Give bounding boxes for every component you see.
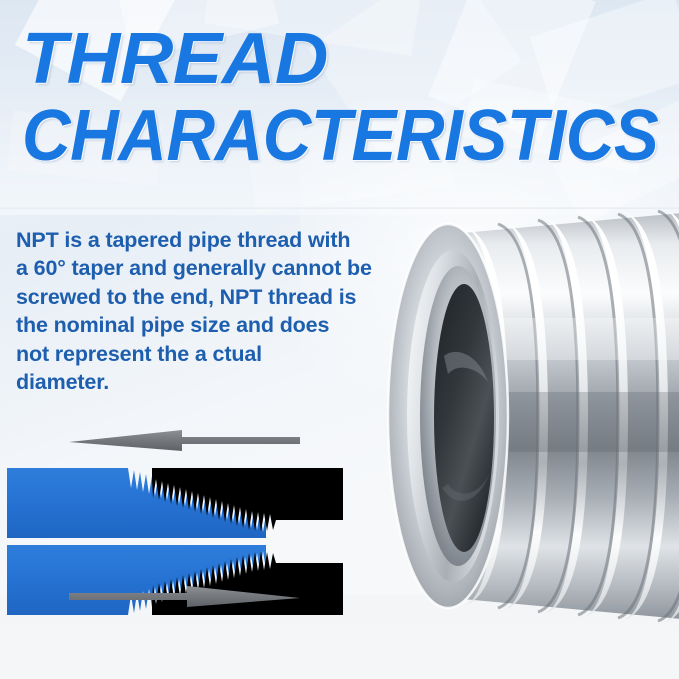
arrow-pointing-left <box>69 430 300 451</box>
description-line: a 60° taper and generally cannot be <box>16 254 382 282</box>
description-line: the nominal pipe size and does <box>16 311 382 339</box>
description-line: not represent the a ctual <box>16 340 382 368</box>
description-paragraph: NPT is a tapered pipe thread with a 60° … <box>16 226 382 396</box>
thread-characteristics-infographic: THREAD CHARACTERISTICS NPT is a tapered … <box>0 0 679 679</box>
description-line: NPT is a tapered pipe thread with <box>16 226 382 254</box>
title-line-characteristics: CHARACTERISTICS <box>22 101 630 172</box>
description-line: screwed to the end, NPT thread is <box>16 283 382 311</box>
male-thread-bar-top <box>7 468 343 538</box>
description-line: diameter. <box>16 368 382 396</box>
page-title: THREAD CHARACTERISTICS <box>22 24 672 171</box>
title-line-thread: THREAD <box>22 24 679 95</box>
npt-thread-engagement-diagram <box>0 410 400 635</box>
male-thread-bar-bottom <box>7 545 343 615</box>
header-divider <box>0 207 679 209</box>
